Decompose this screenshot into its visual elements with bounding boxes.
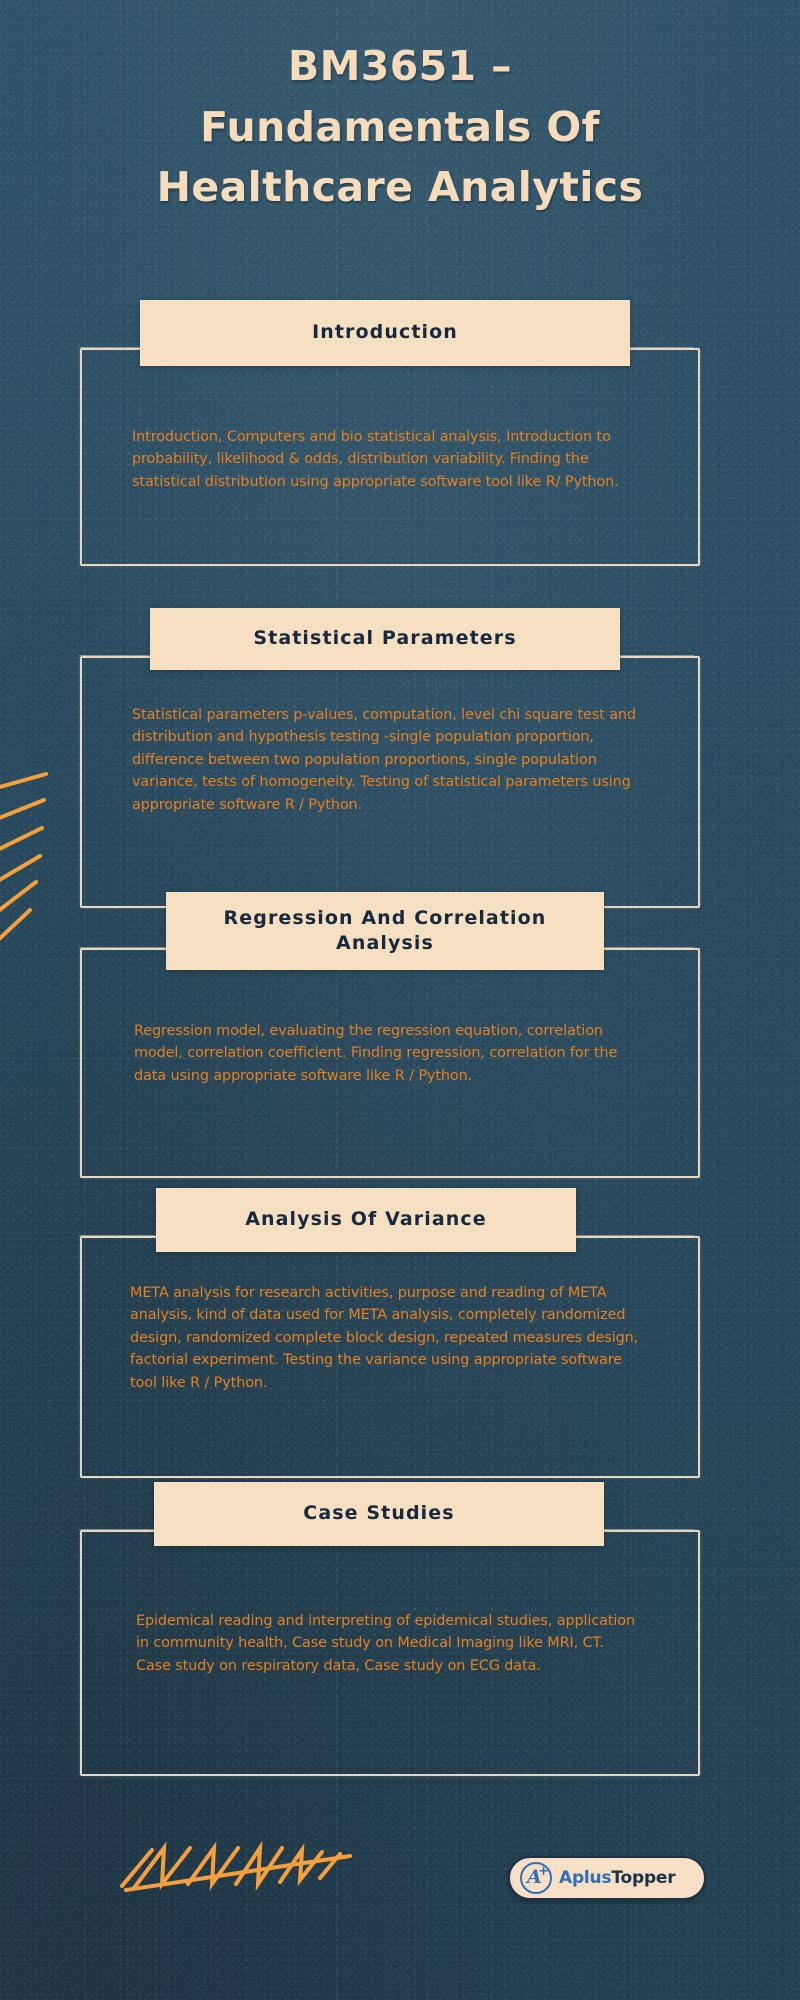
page-title-line-2: Fundamentals Of: [55, 97, 745, 158]
infographic-page: BM3651 – Fundamentals Of Healthcare Anal…: [0, 0, 800, 2000]
section-body-introduction: Introduction, Computers and bio statisti…: [132, 426, 642, 493]
aplus-circle-icon: A +: [520, 1862, 552, 1894]
section-body-analysis-of-variance: META analysis for research activities, p…: [130, 1282, 642, 1394]
aplustopper-logo[interactable]: A + AplusTopper: [508, 1856, 706, 1900]
page-title: BM3651 – Fundamentals Of Healthcare Anal…: [0, 36, 800, 218]
logo-wordmark: AplusTopper: [559, 1868, 675, 1888]
section-body-statistical-parameters: Statistical parameters p-values, computa…: [132, 704, 644, 816]
logo-wordmark-part1: Aplus: [559, 1868, 611, 1888]
orange-scribble-footer-decoration: [118, 1838, 354, 1896]
section-heading-analysis-of-variance: Analysis Of Variance: [156, 1188, 576, 1252]
orange-scribble-left-decoration: [0, 770, 64, 970]
logo-wordmark-part2: Topper: [611, 1868, 675, 1888]
logo-plus-icon: +: [538, 1865, 549, 1878]
section-heading-introduction: Introduction: [140, 300, 630, 366]
page-title-line-3: Healthcare Analytics: [55, 157, 745, 218]
section-body-regression-and-correlation-analysis: Regression model, evaluating the regress…: [134, 1020, 634, 1087]
section-heading-regression-and-correlation-analysis: Regression And Correlation Analysis: [166, 892, 604, 970]
section-heading-case-studies: Case Studies: [154, 1482, 604, 1546]
section-body-case-studies: Epidemical reading and interpreting of e…: [136, 1610, 642, 1677]
page-title-line-1: BM3651 –: [55, 36, 745, 97]
section-heading-statistical-parameters: Statistical Parameters: [150, 608, 620, 670]
